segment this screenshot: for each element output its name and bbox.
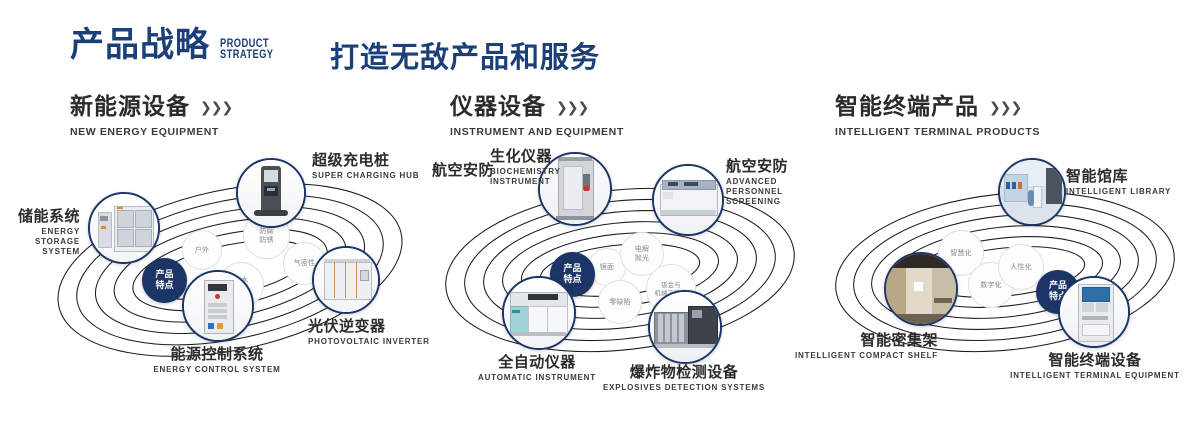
node-label-en: INTELLIGENT LIBRARY [1066, 187, 1196, 197]
node-label-cn: 光伏逆变器 [308, 318, 448, 335]
node-label-en: ENERGY STORAGE SYSTEM [0, 227, 80, 257]
node-label-en: INTELLIGENT COMPACT SHELF [768, 351, 938, 361]
page-slogan: 打造无敌产品和服务 [330, 34, 600, 76]
node-label-en: BIOCHEMISTRY INSTRUMENT [490, 167, 600, 187]
section-title-en: NEW ENERGY EQUIPMENT [70, 126, 232, 138]
chevron-right-icon: ❯❯❯ [556, 99, 588, 116]
feature-bubble: 户外 [182, 230, 222, 270]
page-title-en-line2: STRATEGY [220, 49, 273, 60]
core-badge-product-features: 产品 特点 [142, 258, 187, 303]
section-title-cn: 仪器设备 [450, 96, 546, 119]
feature-bubble-label: 气密性 [294, 259, 316, 268]
node-intelligent-terminal-equipment[interactable] [1058, 276, 1130, 348]
chevron-right-icon: ❯❯❯ [989, 99, 1021, 116]
diagram-new-energy: 户外 防腐 防锈 防水 防尘 气密性 产品 特点 [40, 170, 420, 370]
page-title: 产品战略 PRODUCT STRATEGY [70, 28, 288, 62]
node-intelligent-compact-shelf[interactable] [884, 252, 958, 326]
core-badge-line1: 产品 [155, 270, 173, 281]
diagram-intelligent-terminal: 智慧化 数字化 人性化 产品 特点 [820, 172, 1190, 372]
node-label-cn: 能源控制系统 [124, 346, 310, 363]
node-automatic-instrument[interactable] [502, 276, 576, 350]
label-explosives-detection-systems: 爆炸物检测设备 EXPLOSIVES DETECTION SYSTEMS [598, 364, 770, 393]
label-intelligent-terminal-equipment: 智能终端设备 INTELLIGENT TERMINAL EQUIPMENT [1000, 352, 1190, 381]
feature-bubble-label: 防腐 防锈 [259, 227, 273, 245]
node-label-cn: 全自动仪器 [452, 354, 622, 371]
node-label-cn: 智能密集架 [768, 332, 938, 349]
label-energy-control-system: 能源控制系统 ENERGY CONTROL SYSTEM [124, 346, 310, 375]
section-title-cn: 智能终端产品 [835, 96, 979, 119]
feature-bubble-label: 户外 [195, 246, 209, 255]
feature-bubble-label: 镜面 [600, 263, 614, 272]
diagram-instrument: 镜面 电解 抛光 零缺陷 钣金与 机械工结合 产品 特点 航空安防 [430, 170, 810, 370]
section-title-en: INTELLIGENT TERMINAL PRODUCTS [835, 126, 1040, 138]
node-super-charging-hub[interactable] [236, 158, 306, 228]
core-badge-line1: 产品 [563, 264, 581, 275]
feature-bubble-label: 零缺陷 [609, 298, 631, 307]
label-intelligent-library: 智能馆库 INTELLIGENT LIBRARY [1066, 168, 1196, 197]
section-title-new-energy: 新能源设备 ❯❯❯ NEW ENERGY EQUIPMENT [70, 96, 232, 138]
node-photovoltaic-inverter[interactable] [312, 246, 380, 314]
node-energy-storage-system[interactable] [88, 192, 160, 264]
page-title-cn: 产品战略 [70, 28, 210, 62]
product-strategy-infographic: 产品战略 PRODUCT STRATEGY 打造无敌产品和服务 新能源设备 ❯❯… [0, 0, 1200, 422]
label-biochemistry-instrument: 生化仪器 BIOCHEMISTRY INSTRUMENT [490, 148, 600, 187]
node-label-cn: 智能终端设备 [1000, 352, 1190, 369]
node-label-en: AUTOMATIC INSTRUMENT [452, 373, 622, 383]
node-energy-control-system[interactable] [182, 270, 254, 342]
label-automatic-instrument: 全自动仪器 AUTOMATIC INSTRUMENT [452, 354, 622, 383]
node-explosives-detection-systems[interactable] [648, 290, 722, 364]
node-label-cn: 智能馆库 [1066, 168, 1196, 185]
node-label-cn: 爆炸物检测设备 [598, 364, 770, 381]
section-title-instrument: 仪器设备 ❯❯❯ INSTRUMENT AND EQUIPMENT [450, 96, 624, 138]
node-advanced-personnel-screening[interactable] [652, 164, 724, 236]
node-label-cn: 储能系统 [0, 208, 80, 225]
node-label-en: ENERGY CONTROL SYSTEM [124, 365, 310, 375]
feature-bubble-label: 人性化 [1010, 263, 1032, 272]
node-label-cn: 生化仪器 [490, 148, 600, 165]
feature-bubble-label: 数字化 [980, 281, 1002, 290]
label-energy-storage-system: 储能系统 ENERGY STORAGE SYSTEM [0, 208, 80, 257]
node-label-en: PHOTOVOLTAIC INVERTER [308, 337, 448, 347]
feature-bubble-label: 电解 抛光 [635, 245, 649, 263]
section-title-en: INSTRUMENT AND EQUIPMENT [450, 126, 624, 138]
feature-bubble: 零缺陷 [598, 280, 642, 324]
node-label-en: EXPLOSIVES DETECTION SYSTEMS [598, 383, 770, 393]
section-title-intelligent-terminal: 智能终端产品 ❯❯❯ INTELLIGENT TERMINAL PRODUCTS [835, 96, 1040, 138]
node-label-en: INTELLIGENT TERMINAL EQUIPMENT [1000, 371, 1190, 381]
core-badge-line2: 特点 [155, 281, 173, 292]
node-intelligent-library[interactable] [998, 158, 1066, 226]
label-intelligent-compact-shelf: 智能密集架 INTELLIGENT COMPACT SHELF [768, 332, 938, 361]
label-aviation-security-left: 航空安防 [404, 162, 494, 181]
section-title-cn: 新能源设备 [70, 96, 190, 119]
node-label-cn: 航空安防 [404, 162, 494, 179]
chevron-right-icon: ❯❯❯ [200, 99, 232, 116]
page-title-en: PRODUCT STRATEGY [220, 38, 273, 60]
label-photovoltaic-inverter: 光伏逆变器 PHOTOVOLTAIC INVERTER [308, 318, 448, 347]
